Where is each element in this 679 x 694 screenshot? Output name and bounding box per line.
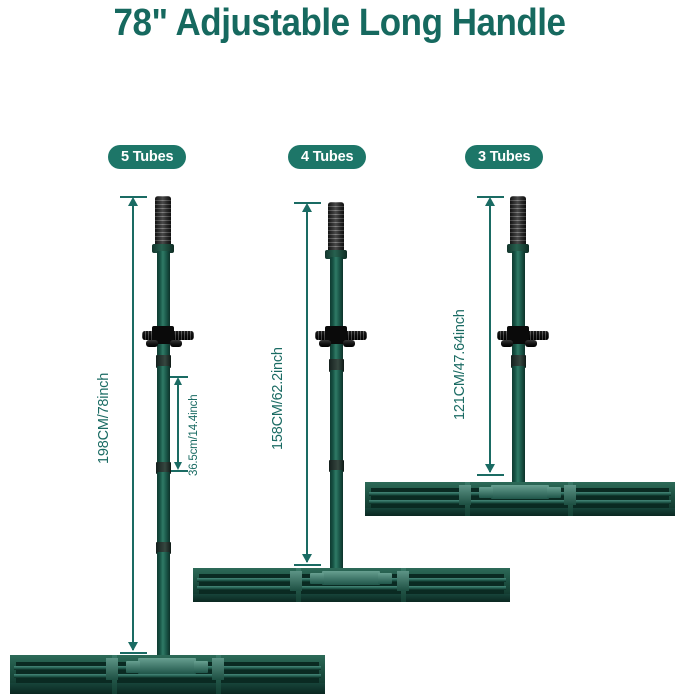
badge-3-tubes: 3 Tubes (465, 145, 543, 169)
dimension-bottom-cap (477, 474, 504, 476)
base-bracket-right (397, 571, 409, 591)
clamp-foot-right (170, 340, 182, 347)
base-hub-left-cap (310, 573, 324, 584)
clamp-foot-right (343, 340, 355, 347)
clamp-foot-right (525, 340, 537, 347)
dimension-line (306, 206, 308, 562)
dimension-arrow-down (485, 464, 495, 473)
handle-grip (328, 202, 344, 252)
clamp-foot-left (146, 340, 158, 347)
base-bracket-right (564, 485, 576, 505)
base-center-hub (138, 658, 196, 674)
base-rack-5-tubes (10, 655, 325, 694)
dimension-label-198cm: 198CM/78inch (96, 373, 112, 464)
dimension-arrow-down (128, 642, 138, 651)
dimension-line (489, 200, 491, 472)
base-hub-left-cap (126, 661, 140, 673)
clamp-foot-left (501, 340, 513, 347)
pole-section-4 (157, 552, 170, 662)
base-bracket-left (290, 571, 302, 591)
base-rack-3-tubes (365, 482, 675, 516)
base-front-edge (10, 683, 325, 694)
grip-ribs (155, 196, 171, 246)
dimension-arrow-down (302, 554, 312, 563)
badge-4-tubes: 4 Tubes (288, 145, 366, 169)
handle-grip (155, 196, 171, 246)
grip-ribs (328, 202, 344, 252)
base-hub-right-cap (194, 661, 208, 673)
segment-arrow-down (174, 462, 182, 470)
segment-line (177, 380, 179, 466)
grip-ribs (510, 196, 526, 246)
base-bracket-right (212, 658, 224, 680)
base-bracket-left (106, 658, 118, 680)
badge-5-tubes: 5 Tubes (108, 145, 186, 169)
base-front-edge (193, 594, 510, 602)
pole-section-3 (330, 470, 343, 574)
pole-section-3 (157, 472, 170, 544)
base-rack-4-tubes (193, 568, 510, 602)
dimension-line (132, 200, 134, 650)
base-bracket-left (459, 485, 471, 505)
base-front-edge (365, 508, 675, 516)
dimension-label-36-5cm: 36.5cm/14.4inch (188, 395, 200, 476)
dimension-bottom-cap (120, 652, 147, 654)
base-hub-right-cap (378, 573, 392, 584)
base-center-hub (322, 571, 380, 585)
base-center-hub (491, 485, 549, 499)
base-hub-left-cap (479, 487, 493, 498)
pole-section-2 (512, 366, 525, 488)
segment-bottom-cap (170, 470, 188, 472)
pole-section-1 (330, 257, 343, 361)
clamp-foot-left (319, 340, 331, 347)
dimension-label-158cm: 158CM/62.2inch (270, 347, 286, 450)
dimension-label-121cm: 121CM/47.64inch (452, 309, 468, 420)
page-title: 78" Adjustable Long Handle (27, 2, 652, 45)
product-infographic: 78" Adjustable Long Handle 5 Tubes 198CM… (0, 0, 679, 694)
base-hub-right-cap (547, 487, 561, 498)
pole-section-2 (330, 370, 343, 462)
dimension-bottom-cap (294, 564, 321, 566)
handle-grip (510, 196, 526, 246)
pole-section-2 (157, 366, 170, 464)
